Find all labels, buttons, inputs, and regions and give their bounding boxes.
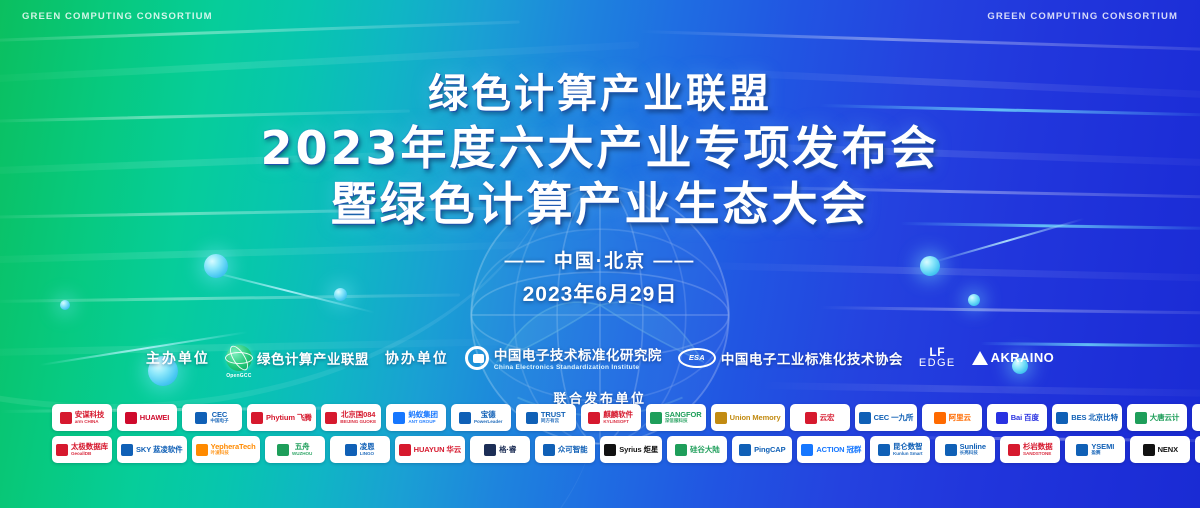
partner-logo-name: 五舟: [292, 443, 312, 451]
partner-logo-chip[interactable]: SKY 蓝凌软件: [117, 436, 187, 463]
event-location: —— 中国·北京 ——: [0, 246, 1200, 273]
partner-logo-name: 大唐云计: [1150, 414, 1180, 422]
conference-poster: GREEN COMPUTING CONSORTIUM GREEN COMPUTI…: [0, 0, 1200, 508]
partner-logo-subname: 同方有云: [541, 418, 566, 424]
partner-logo-chip[interactable]: NENX: [1130, 436, 1190, 463]
partner-logo-mark-icon: [934, 412, 946, 424]
partner-logo-name: PingCAP: [754, 446, 785, 454]
partner-logo-mark-icon: [56, 444, 68, 456]
partner-logo-chip[interactable]: 麒麟软件KYLINSOFT: [581, 404, 641, 431]
partner-logo-grid: 安谋科技arm CHINAHUAWEICEC中国电子Phytium 飞腾北京国0…: [52, 404, 1148, 468]
partner-logo-subname: Kunlun Smart: [893, 451, 923, 456]
partner-logo-name: Bai 百度: [1011, 414, 1039, 422]
partner-logo-mark-icon: [543, 444, 555, 456]
partner-logo-chip[interactable]: 凌恩LINGO: [330, 436, 390, 463]
partner-logo-row-1: 安谋科技arm CHINAHUAWEICEC中国电子Phytium 飞腾北京国0…: [52, 404, 1148, 431]
partner-logo-mark-icon: [1143, 444, 1155, 456]
partner-logo-mark-icon: [1076, 444, 1088, 456]
partner-logo-mark-icon: [393, 412, 405, 424]
cohost-logo-akraino: AKRAINO: [972, 350, 1054, 365]
partner-logo-chip[interactable]: 安谋科技arm CHINA: [52, 404, 112, 431]
partner-logo-row-2: 太极数据库GeoallDBSKY 蓝凌软件YepheraTech叶凌科技五舟WU…: [52, 436, 1148, 463]
partner-logo-mark-icon: [345, 444, 357, 456]
partner-logo-chip[interactable]: 大唐云计: [1127, 404, 1187, 431]
host-logo: OpenGCC 绿色计算产业联盟: [226, 345, 369, 371]
partner-logo-subname: BEIJING GUOKE: [340, 419, 376, 424]
partner-logo-name: 云宏: [820, 414, 835, 422]
partner-logo-mark-icon: [251, 412, 263, 424]
cesi-name-cn: 中国电子技术标准化研究院: [494, 344, 662, 364]
partner-logo-subname: KYLINSOFT: [603, 419, 633, 424]
title-line-2: 2023年度六大产业专项发布会: [0, 122, 1200, 174]
partner-logo-mark-icon: [650, 412, 662, 424]
partner-logo-name: BES 北京比特: [1071, 414, 1118, 422]
title-line-1: 绿色计算产业联盟: [0, 72, 1200, 118]
partner-logo-name: 太极数据库: [71, 443, 108, 451]
partner-logo-name: HUAYUN 华云: [414, 446, 462, 454]
partner-logo-name: 蚂蚁集团: [408, 411, 438, 419]
partner-logo-mark-icon: [325, 412, 337, 424]
partner-logo-mark-icon: [604, 444, 616, 456]
partner-logo-chip[interactable]: SANGFOR深信服科技: [646, 404, 706, 431]
partner-logo-name: 杉岩数据: [1023, 443, 1053, 451]
organizer-row: 主办单位 OpenGCC 绿色计算产业联盟 协办单位 中国电子技术标准化研究院 …: [0, 344, 1200, 371]
partner-logo-mark-icon: [399, 444, 411, 456]
partner-logo-mark-icon: [526, 412, 538, 424]
partner-logo-mark-icon: [805, 412, 817, 424]
partner-logo-subname: 长亮科技: [960, 450, 986, 456]
partner-logo-chip[interactable]: 太极数据库GeoallDB: [52, 436, 112, 463]
partner-logo-chip[interactable]: Union Memory: [711, 404, 785, 431]
partner-logo-name: 格·睿: [499, 446, 516, 454]
partner-logo-mark-icon: [878, 444, 890, 456]
partner-logo-chip[interactable]: BES 北京比特: [1052, 404, 1122, 431]
partner-logo-chip[interactable]: YepheraTech叶凌科技: [192, 436, 260, 463]
partner-logo-subname: arm CHINA: [75, 419, 105, 424]
partner-logo-chip[interactable]: CEC 一九所: [855, 404, 918, 431]
partner-logo-subname: PowerLeader: [474, 419, 502, 424]
partner-logo-chip[interactable]: 硅谷大陆: [667, 436, 727, 463]
partner-logo-chip[interactable]: 长城超云GREATWALL: [1195, 436, 1200, 463]
opengcc-icon: OpenGCC: [226, 345, 252, 371]
cohost-logo-lfedge: LF EDGE: [919, 347, 956, 368]
corner-label-right: GREEN COMPUTING CONSORTIUM: [987, 11, 1178, 22]
partner-logo-chip[interactable]: YSEMI盈赛: [1065, 436, 1125, 463]
partner-logo-mark-icon: [859, 412, 871, 424]
partner-logo-chip[interactable]: 格·睿: [470, 436, 530, 463]
partner-logo-mark-icon: [195, 412, 207, 424]
partner-logo-chip[interactable]: CEC中国电子: [182, 404, 242, 431]
partner-logo-chip[interactable]: 宝德PowerLeader: [451, 404, 511, 431]
host-label: 主办单位: [146, 348, 210, 368]
partner-logo-name: Phytium 飞腾: [266, 414, 312, 422]
partner-logo-subname: 深信服科技: [665, 418, 702, 424]
cohost-logo-esa: ESA 中国电子工业标准化技术协会: [678, 348, 903, 368]
partner-logo-mark-icon: [945, 444, 957, 456]
partner-logo-chip[interactable]: 北京国084BEIJING GUOKE: [321, 404, 381, 431]
partner-logo-name: 安谋科技: [75, 411, 105, 419]
partner-logo-name: 阿里云: [949, 414, 971, 422]
partner-logo-name: SKY 蓝凌软件: [136, 446, 183, 454]
partner-logo-mark-icon: [1135, 412, 1147, 424]
partner-logo-subname: SANDSTONE: [1023, 451, 1053, 456]
partner-logo-name: NENX: [1158, 446, 1178, 454]
partner-logo-name: 硅谷大陆: [690, 446, 720, 454]
cesi-name-en: China Electronics Standardization Instit…: [494, 364, 662, 371]
partner-logo-chip[interactable]: 阿里云: [922, 404, 982, 431]
partner-logo-name: Syrius 炬星: [619, 446, 658, 454]
partner-logo-name: 麒麟软件: [603, 411, 633, 419]
partner-logo-mark-icon: [588, 412, 600, 424]
partner-logo-mark-icon: [121, 444, 133, 456]
partner-logo-mark-icon: [484, 444, 496, 456]
partner-logo-mark-icon: [60, 412, 72, 424]
partner-logo-subname: GeoallDB: [71, 451, 108, 456]
partner-logo-name: CEC 一九所: [874, 414, 914, 422]
partner-logo-chip[interactable]: TRUST同方有云: [516, 404, 576, 431]
lfedge-line-2: EDGE: [919, 358, 956, 368]
partner-logo-subname: WUZHOU: [292, 451, 312, 456]
partner-logo-chip[interactable]: 杉岩数据SANDSTONE: [1000, 436, 1060, 463]
partner-logo-subname: ANT GROUP: [408, 419, 438, 424]
cohost-label: 协办单位: [385, 348, 449, 368]
partner-logo-mark-icon: [277, 444, 289, 456]
partner-logo-chip[interactable]: HUAWEI: [117, 404, 177, 431]
partner-logo-mark-icon: [801, 444, 813, 456]
corner-label-left: GREEN COMPUTING CONSORTIUM: [22, 11, 213, 22]
partner-logo-chip[interactable]: 昆仑数智Kunlun Smart: [870, 436, 930, 463]
partner-logo-mark-icon: [675, 444, 687, 456]
akraino-triangle-icon: [972, 351, 988, 365]
partner-logo-subname: 叶凌科技: [211, 450, 256, 456]
title-block: 绿色计算产业联盟 2023年度六大产业专项发布会 暨绿色计算产业生态大会 —— …: [0, 72, 1200, 308]
partner-logo-mark-icon: [1008, 444, 1020, 456]
partner-logo-chip[interactable]: Sunline长亮科技: [935, 436, 995, 463]
partner-logo-name: 众可智能: [558, 446, 588, 454]
partner-logo-name: 北京国084: [340, 411, 376, 419]
partner-logo-subname: 中国电子: [210, 418, 228, 424]
partner-logo-mark-icon: [1056, 412, 1068, 424]
partner-logo-subname: LINGO: [360, 451, 375, 456]
partner-logo-mark-icon: [739, 444, 751, 456]
akraino-name: AKRAINO: [991, 350, 1054, 365]
partner-logo-chip[interactable]: Bai 百度: [987, 404, 1047, 431]
partner-logo-chip[interactable]: 蚂蚁集团ANT GROUP: [386, 404, 446, 431]
partner-logo-subname: 盈赛: [1091, 450, 1114, 456]
cesi-icon: [465, 346, 489, 370]
partner-logo-mark-icon: [996, 412, 1008, 424]
partner-logo-name: 凌恩: [360, 443, 375, 451]
esa-name-cn: 中国电子工业标准化技术协会: [721, 348, 903, 368]
lfedge-icon: LF EDGE: [919, 347, 956, 368]
cohost-logo-cesi: 中国电子技术标准化研究院 China Electronics Standardi…: [465, 344, 662, 371]
partner-logo-mark-icon: [459, 412, 471, 424]
partner-logo-chip[interactable]: 东方通: [1192, 404, 1200, 431]
partner-logo-chip[interactable]: 云宏: [790, 404, 850, 431]
title-line-3: 暨绿色计算产业生态大会: [0, 178, 1200, 230]
partner-logo-mark-icon: [125, 412, 137, 424]
partner-logo-chip[interactable]: PingCAP: [732, 436, 792, 463]
partner-logo-name: 昆仑数智: [893, 443, 923, 451]
partner-logo-chip[interactable]: ACTION 冠群: [797, 436, 865, 463]
esa-icon: ESA: [678, 348, 716, 368]
partner-logo-mark-icon: [196, 444, 208, 456]
partner-logo-name: 宝德: [474, 411, 502, 419]
partner-logo-chip[interactable]: 众可智能: [535, 436, 595, 463]
partner-logo-name: ACTION 冠群: [816, 446, 861, 454]
partner-logo-chip[interactable]: 五舟WUZHOU: [265, 436, 325, 463]
host-name: 绿色计算产业联盟: [257, 348, 369, 368]
opengcc-icon-caption: OpenGCC: [226, 373, 252, 379]
partner-logo-chip[interactable]: Syrius 炬星: [600, 436, 662, 463]
partner-logo-name: HUAWEI: [140, 414, 169, 422]
partner-logo-chip[interactable]: HUAYUN 华云: [395, 436, 466, 463]
event-date: 2023年6月29日: [0, 278, 1200, 308]
partner-logo-mark-icon: [715, 412, 727, 424]
partner-logo-chip[interactable]: Phytium 飞腾: [247, 404, 316, 431]
partner-logo-name: Union Memory: [730, 414, 781, 422]
